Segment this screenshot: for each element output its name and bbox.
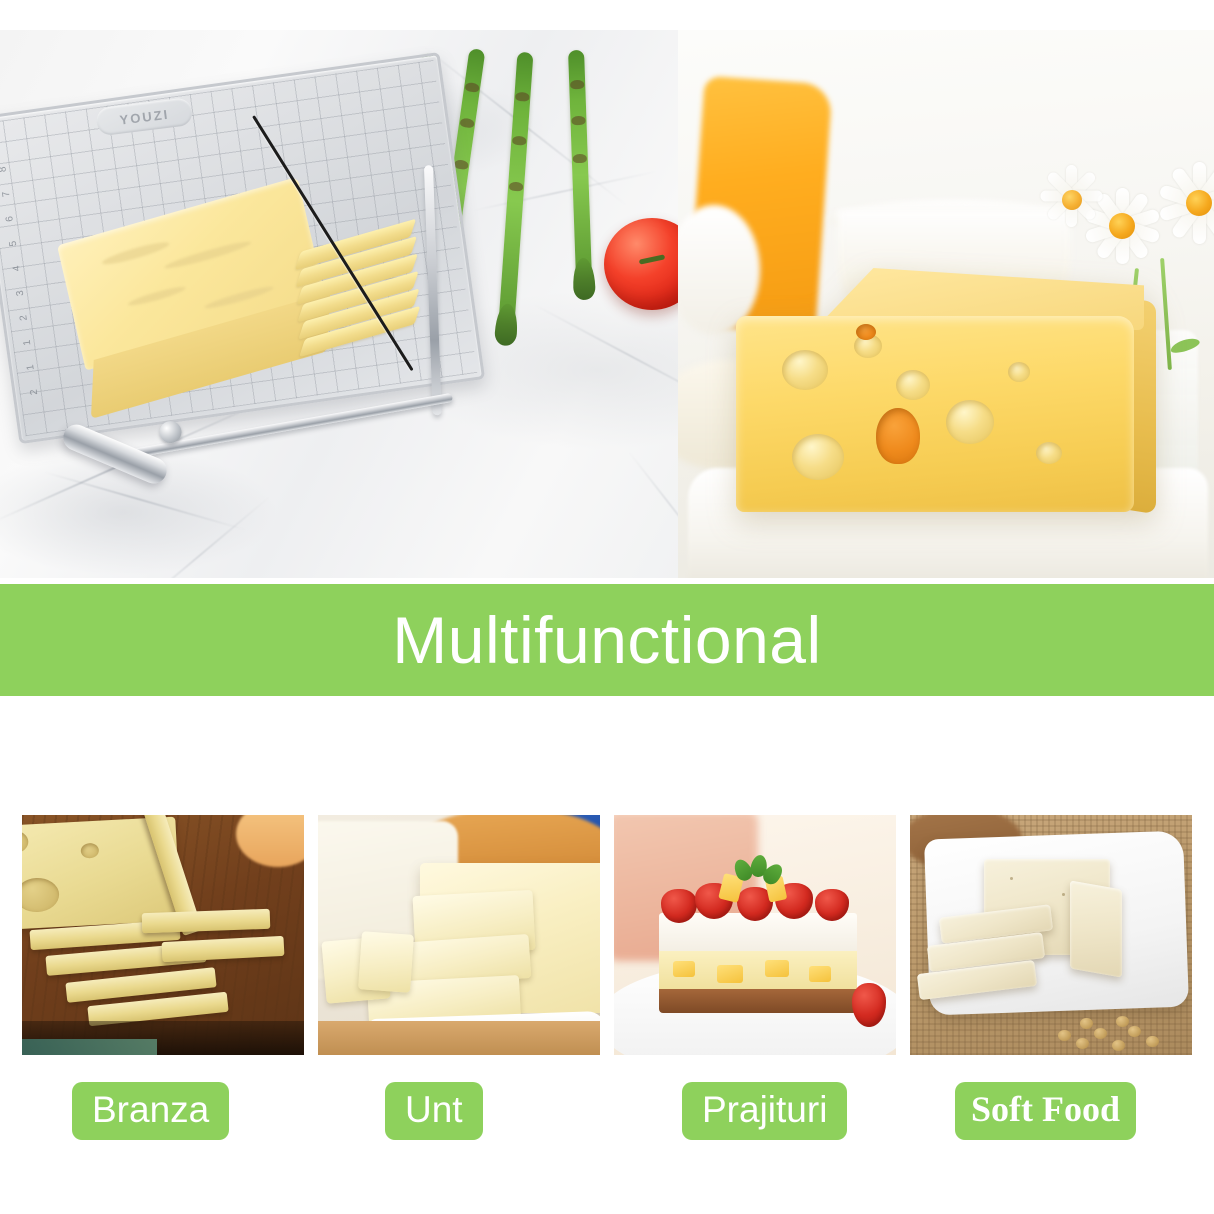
label-badge-soft-food: Soft Food [955,1082,1136,1140]
daisy-center [1186,190,1212,216]
soybean [1116,1016,1129,1027]
multifunctional-banner: Multifunctional [0,584,1214,696]
thumbnail-prajituri [614,815,896,1055]
hero-image-swiss-cheese [678,30,1214,578]
banner-title: Multifunctional [392,607,821,673]
ruler-tick: 2 [29,389,41,396]
thumbnail-unt [318,815,600,1055]
label-badge-unt: Unt [385,1082,483,1141]
label-cell-unt: Unt [323,1078,622,1144]
soybean [1128,1026,1141,1037]
label-cell-prajituri: Prajituri [636,1078,919,1144]
board-edge [22,1039,157,1055]
hero-image-slicer: YOUZI 8 7 6 5 4 3 2 1 1 2 [0,30,678,578]
ruler-tick: 1 [25,364,37,371]
label-badge-prajituri: Prajituri [682,1082,847,1141]
soybean [1112,1040,1125,1051]
soybean [1146,1036,1159,1047]
ruler-tick: 1 [22,339,34,346]
layer-cake-slice [659,891,856,1013]
hero-image-row: YOUZI 8 7 6 5 4 3 2 1 1 2 [0,30,1214,578]
cake-biscuit-base [659,989,856,1013]
daisy-center [1109,213,1135,239]
cheese-slicer-device: YOUZI 8 7 6 5 4 3 2 1 1 2 [0,38,527,536]
daisy-flower [1034,162,1110,238]
soybean [1080,1018,1093,1029]
ruler-tick: 5 [8,240,20,247]
soybean [1076,1038,1089,1049]
ruler-tick: 4 [11,265,23,272]
use-case-label-row: Branza Unt Prajituri Soft Food [0,1078,1214,1144]
ruler-tick: 3 [15,290,27,297]
label-cell-soft-food: Soft Food [933,1078,1192,1144]
label-badge-branza: Branza [72,1082,229,1141]
ruler-tick: 2 [18,314,30,321]
thumbnail-branza [22,815,304,1055]
ruler-tick: 8 [0,166,9,173]
soybean [1094,1028,1107,1039]
wooden-table-surface [318,1021,600,1055]
cake-custard-layer [659,951,856,991]
tofu-block-side [1070,880,1122,977]
cheese-wedge-face [736,316,1134,512]
label-cell-branza: Branza [22,1078,309,1144]
ruler-tick: 7 [1,191,13,198]
daisy-flower [1144,148,1214,258]
slicer-board: YOUZI 8 7 6 5 4 3 2 1 1 2 [0,52,485,444]
product-infographic: YOUZI 8 7 6 5 4 3 2 1 1 2 [0,0,1214,1214]
ruler-tick: 6 [4,215,16,222]
thumbnail-soft-food [910,815,1192,1055]
daisy-center [1062,190,1082,210]
soybean [1058,1030,1071,1041]
brand-text: YOUZI [119,106,170,127]
use-case-thumbnail-row [0,815,1214,1055]
swiss-cheese-wedge [736,268,1156,518]
